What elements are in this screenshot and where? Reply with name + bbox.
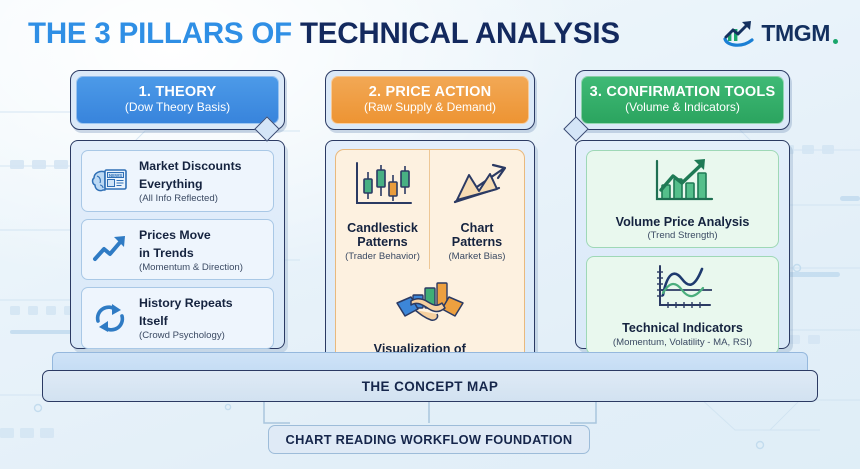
list-item[interactable]: Chart Patterns (Market Bias)	[430, 150, 524, 269]
foundation-label: CHART READING WORKFLOW FOUNDATION	[286, 432, 573, 447]
column-body-theory: NEWS Market Discounts Everything (All In…	[70, 140, 285, 349]
list-item-text: Prices Move in Trends (Momentum & Direct…	[139, 226, 265, 274]
list-item[interactable]: Technical Indicators (Momentum, Volatili…	[586, 256, 779, 354]
list-item[interactable]: Candlestick Patterns (Trader Behavior)	[336, 150, 430, 269]
list-item-text: History Repeats Itself (Crowd Psychology…	[139, 294, 265, 342]
column-subtitle: (Volume & Indicators)	[588, 101, 777, 115]
list-item-title: Volume Price Analysis	[616, 215, 750, 229]
column-body-confirmation-tools: Volume Price Analysis (Trend Strength)	[575, 140, 790, 349]
list-item-title: Chart Patterns	[434, 221, 520, 250]
list-item-text: Market Discounts Everything (All Info Re…	[139, 157, 265, 205]
price-action-card: Candlestick Patterns (Trader Behavior)	[335, 149, 525, 381]
brain-news-icon: NEWS	[90, 164, 132, 198]
base-platform: THE CONCEPT MAP	[42, 370, 818, 402]
oscillator-waves-icon	[646, 263, 720, 316]
upward-trend-arrow-icon	[90, 233, 132, 265]
column-subtitle: (Raw Supply & Demand)	[338, 101, 522, 115]
list-item-subtitle: (Crowd Psychology)	[139, 331, 265, 342]
list-item[interactable]: Volume Price Analysis (Trend Strength)	[586, 150, 779, 248]
list-item[interactable]: Prices Move in Trends (Momentum & Direct…	[81, 219, 274, 281]
list-item-subtitle: (Momentum & Direction)	[139, 263, 265, 274]
pillar-column-price-action: 2. PRICE ACTION (Raw Supply & Demand)	[325, 70, 535, 390]
column-title: 1. THEORY	[83, 84, 272, 100]
column-header-plate: 1. THEORY (Dow Theory Basis)	[76, 76, 279, 124]
svg-text:NEWS: NEWS	[109, 173, 122, 178]
price-action-top-row: Candlestick Patterns (Trader Behavior)	[336, 150, 524, 269]
list-item-title: Technical Indicators	[622, 321, 743, 335]
list-item[interactable]: NEWS Market Discounts Everything (All In…	[81, 150, 274, 212]
column-header-plate: 3. CONFIRMATION TOOLS (Volume & Indicato…	[581, 76, 784, 124]
column-title: 3. CONFIRMATION TOOLS	[588, 84, 777, 100]
column-header-confirmation-tools[interactable]: 3. CONFIRMATION TOOLS (Volume & Indicato…	[575, 70, 790, 130]
list-item-subtitle: (Market Bias)	[434, 251, 520, 262]
foundation-badge[interactable]: CHART READING WORKFLOW FOUNDATION	[268, 425, 590, 454]
list-item[interactable]: History Repeats Itself (Crowd Psychology…	[81, 287, 274, 349]
list-item-title: History Repeats Itself	[139, 296, 233, 328]
column-header-price-action[interactable]: 2. PRICE ACTION (Raw Supply & Demand)	[325, 70, 535, 130]
column-title: 2. PRICE ACTION	[338, 84, 522, 100]
list-item-subtitle: (All Info Reflected)	[139, 194, 265, 205]
base-platform-label: THE CONCEPT MAP	[43, 371, 817, 401]
volume-bars-trend-icon	[646, 157, 720, 210]
pillar-column-theory: 1. THEORY (Dow Theory Basis) NEWS Marke	[70, 70, 285, 390]
candlestick-chart-icon	[347, 199, 419, 216]
list-item-subtitle: (Momentum, Volatility - MA, RSI)	[613, 337, 752, 348]
list-item-title: Candlestick Patterns	[340, 221, 425, 250]
cycle-refresh-arrows-icon	[90, 301, 132, 335]
list-item-title: Market Discounts Everything	[139, 159, 242, 191]
handshake-bars-icon	[387, 275, 473, 336]
list-item-subtitle: (Trend Strength)	[647, 230, 717, 241]
list-item-title: Prices Move in Trends	[139, 228, 211, 260]
wedge-pattern-chart-icon	[441, 199, 513, 216]
list-item-subtitle: (Trader Behavior)	[340, 251, 425, 262]
column-subtitle: (Dow Theory Basis)	[83, 101, 272, 115]
column-header-theory[interactable]: 1. THEORY (Dow Theory Basis)	[70, 70, 285, 130]
pillar-column-confirmation-tools: 3. CONFIRMATION TOOLS (Volume & Indicato…	[575, 70, 790, 390]
column-header-plate: 2. PRICE ACTION (Raw Supply & Demand)	[331, 76, 529, 124]
